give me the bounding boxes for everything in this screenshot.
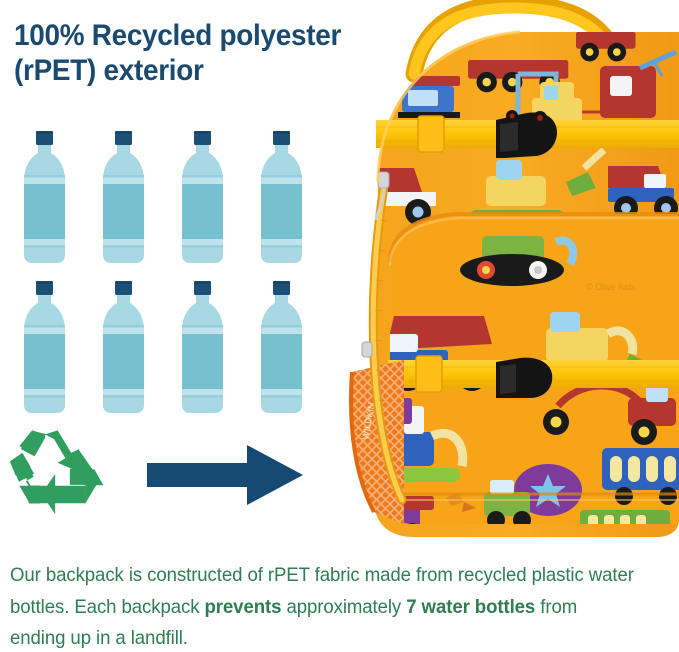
water-bottle-icon: [176, 131, 228, 265]
water-bottle-icon: [97, 131, 149, 265]
backpack-product-image: © Olive Kids: [318, 0, 679, 545]
bottle-grid: [18, 131, 308, 419]
water-bottle-icon: [18, 281, 70, 415]
recycle-icon: [8, 427, 114, 517]
water-bottle-icon: [255, 281, 307, 415]
water-bottle-icon: [255, 131, 307, 265]
caption-segment-2: approximately: [281, 596, 406, 618]
caption-text: Our backpack is constructed of rPET fabr…: [10, 560, 636, 652]
caption-bold-bottles: 7 water bottles: [406, 596, 535, 618]
water-bottle-icon: [97, 281, 149, 415]
zipper-pull: [362, 342, 372, 357]
water-bottle-icon: [18, 131, 70, 265]
caption-bold-prevents: prevents: [204, 596, 281, 618]
watermark-text: © Olive Kids: [586, 282, 636, 292]
water-bottle-icon: [176, 281, 228, 415]
page-title: 100% Recycled polyester (rPET) exterior: [14, 18, 349, 88]
right-arrow-icon: [146, 443, 304, 507]
infographic-page: 100% Recycled polyester (rPET) exterior: [0, 0, 679, 652]
strap-buckle: [496, 358, 552, 398]
